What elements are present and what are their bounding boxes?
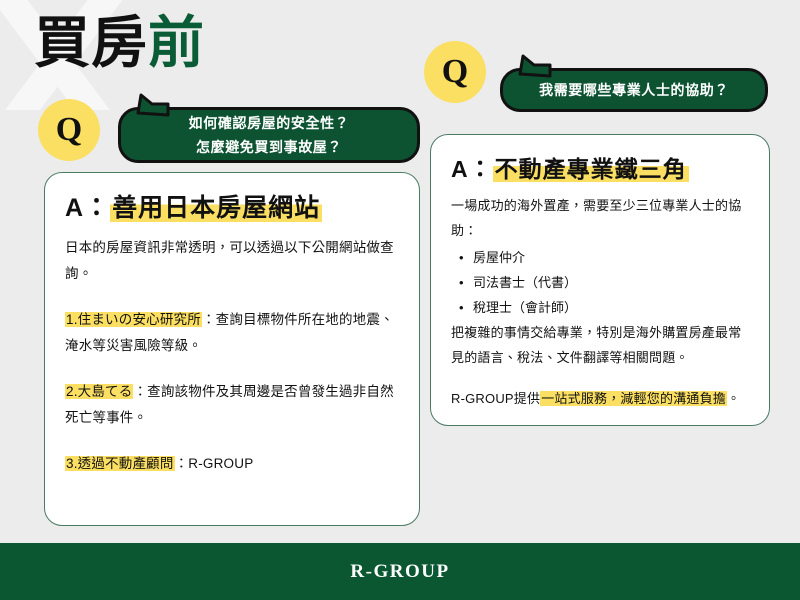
footer-brand: R-GROUP — [350, 561, 449, 583]
bubble-tail-icon — [135, 90, 175, 116]
bubble-tail-icon — [517, 51, 557, 77]
slide-root: { "background": { "page_color": "#ececec… — [0, 0, 800, 600]
question-badge-left: Q — [38, 99, 100, 161]
question-bubble-left-line-1: 如何確認房屋的安全性？ — [189, 111, 350, 135]
footer-bar: R-GROUP — [0, 543, 800, 600]
answer-card-right-heading-highlight: 不動產專業鐵三角 — [493, 156, 689, 182]
answer-card-right-intro: 一場成功的海外置產，需要至少三位專業人士的協助： — [451, 193, 749, 243]
answer-card-left-item-2-marker: 2.大島てる — [65, 384, 133, 399]
question-badge-right-label: Q — [442, 55, 468, 89]
page-title: 買房前 — [34, 8, 205, 78]
answer-card-left: A：善用日本房屋網站 日本的房屋資訊非常透明，可以透過以下公開網站做查詢。 1.… — [44, 172, 420, 526]
answer-card-left-item-3-text: ：R-GROUP — [175, 456, 254, 471]
list-item: 稅理士（會計師） — [473, 295, 749, 320]
answer-card-right-heading: A：不動產專業鐵三角 — [451, 153, 749, 185]
answer-card-right-body: 把複雜的事情交給專業，特別是海外購置房產最常見的語言、稅法、文件翻譯等相關問題。 — [451, 320, 749, 370]
answer-card-right-closing: R-GROUP提供一站式服務，減輕您的溝通負擔。 — [451, 386, 749, 411]
answer-card-right-closing-prefix: R-GROUP提供 — [451, 391, 540, 406]
question-bubble-right: 我需要哪些專業人士的協助？ — [500, 68, 768, 112]
answer-card-left-intro: 日本的房屋資訊非常透明，可以透過以下公開網站做查詢。 — [65, 235, 399, 287]
answer-card-right: A：不動產專業鐵三角 一場成功的海外置產，需要至少三位專業人士的協助： 房屋仲介… — [430, 134, 770, 426]
question-badge-left-label: Q — [56, 113, 82, 147]
question-bubble-right-line-1: 我需要哪些專業人士的協助？ — [539, 78, 729, 102]
list-item: 房屋仲介 — [473, 245, 749, 270]
answer-card-left-heading-prefix: A： — [65, 194, 110, 222]
page-title-green: 前 — [148, 11, 205, 74]
answer-card-right-closing-highlight: 一站式服務，減輕您的溝通負擔 — [540, 391, 727, 406]
answer-card-left-item-3: 3.透過不動產顧問：R-GROUP — [65, 451, 399, 477]
answer-card-right-closing-suffix: 。 — [727, 391, 740, 406]
list-item: 司法書士（代書） — [473, 270, 749, 295]
question-bubble-left-line-2: 怎麼避免買到事故屋？ — [196, 135, 342, 159]
answer-card-left-item-3-marker: 3.透過不動產顧問 — [65, 456, 175, 471]
answer-card-left-item-1: 1.住まいの安心研究所：查詢目標物件所在地的地震、淹水等災害風險等級。 — [65, 307, 399, 359]
answer-card-left-heading: A：善用日本房屋網站 — [65, 191, 399, 225]
answer-card-left-item-1-marker: 1.住まいの安心研究所 — [65, 312, 202, 327]
answer-card-right-heading-prefix: A： — [451, 156, 493, 182]
answer-card-left-item-2: 2.大島てる：查詢該物件及其周邊是否曾發生過非自然死亡等事件。 — [65, 379, 399, 431]
page-title-dark: 買房 — [34, 11, 148, 74]
question-bubble-left: 如何確認房屋的安全性？ 怎麼避免買到事故屋？ — [118, 107, 420, 163]
professional-roles-list: 房屋仲介 司法書士（代書） 稅理士（會計師） — [451, 245, 749, 320]
answer-card-left-heading-highlight: 善用日本房屋網站 — [110, 194, 322, 222]
question-badge-right: Q — [424, 41, 486, 103]
